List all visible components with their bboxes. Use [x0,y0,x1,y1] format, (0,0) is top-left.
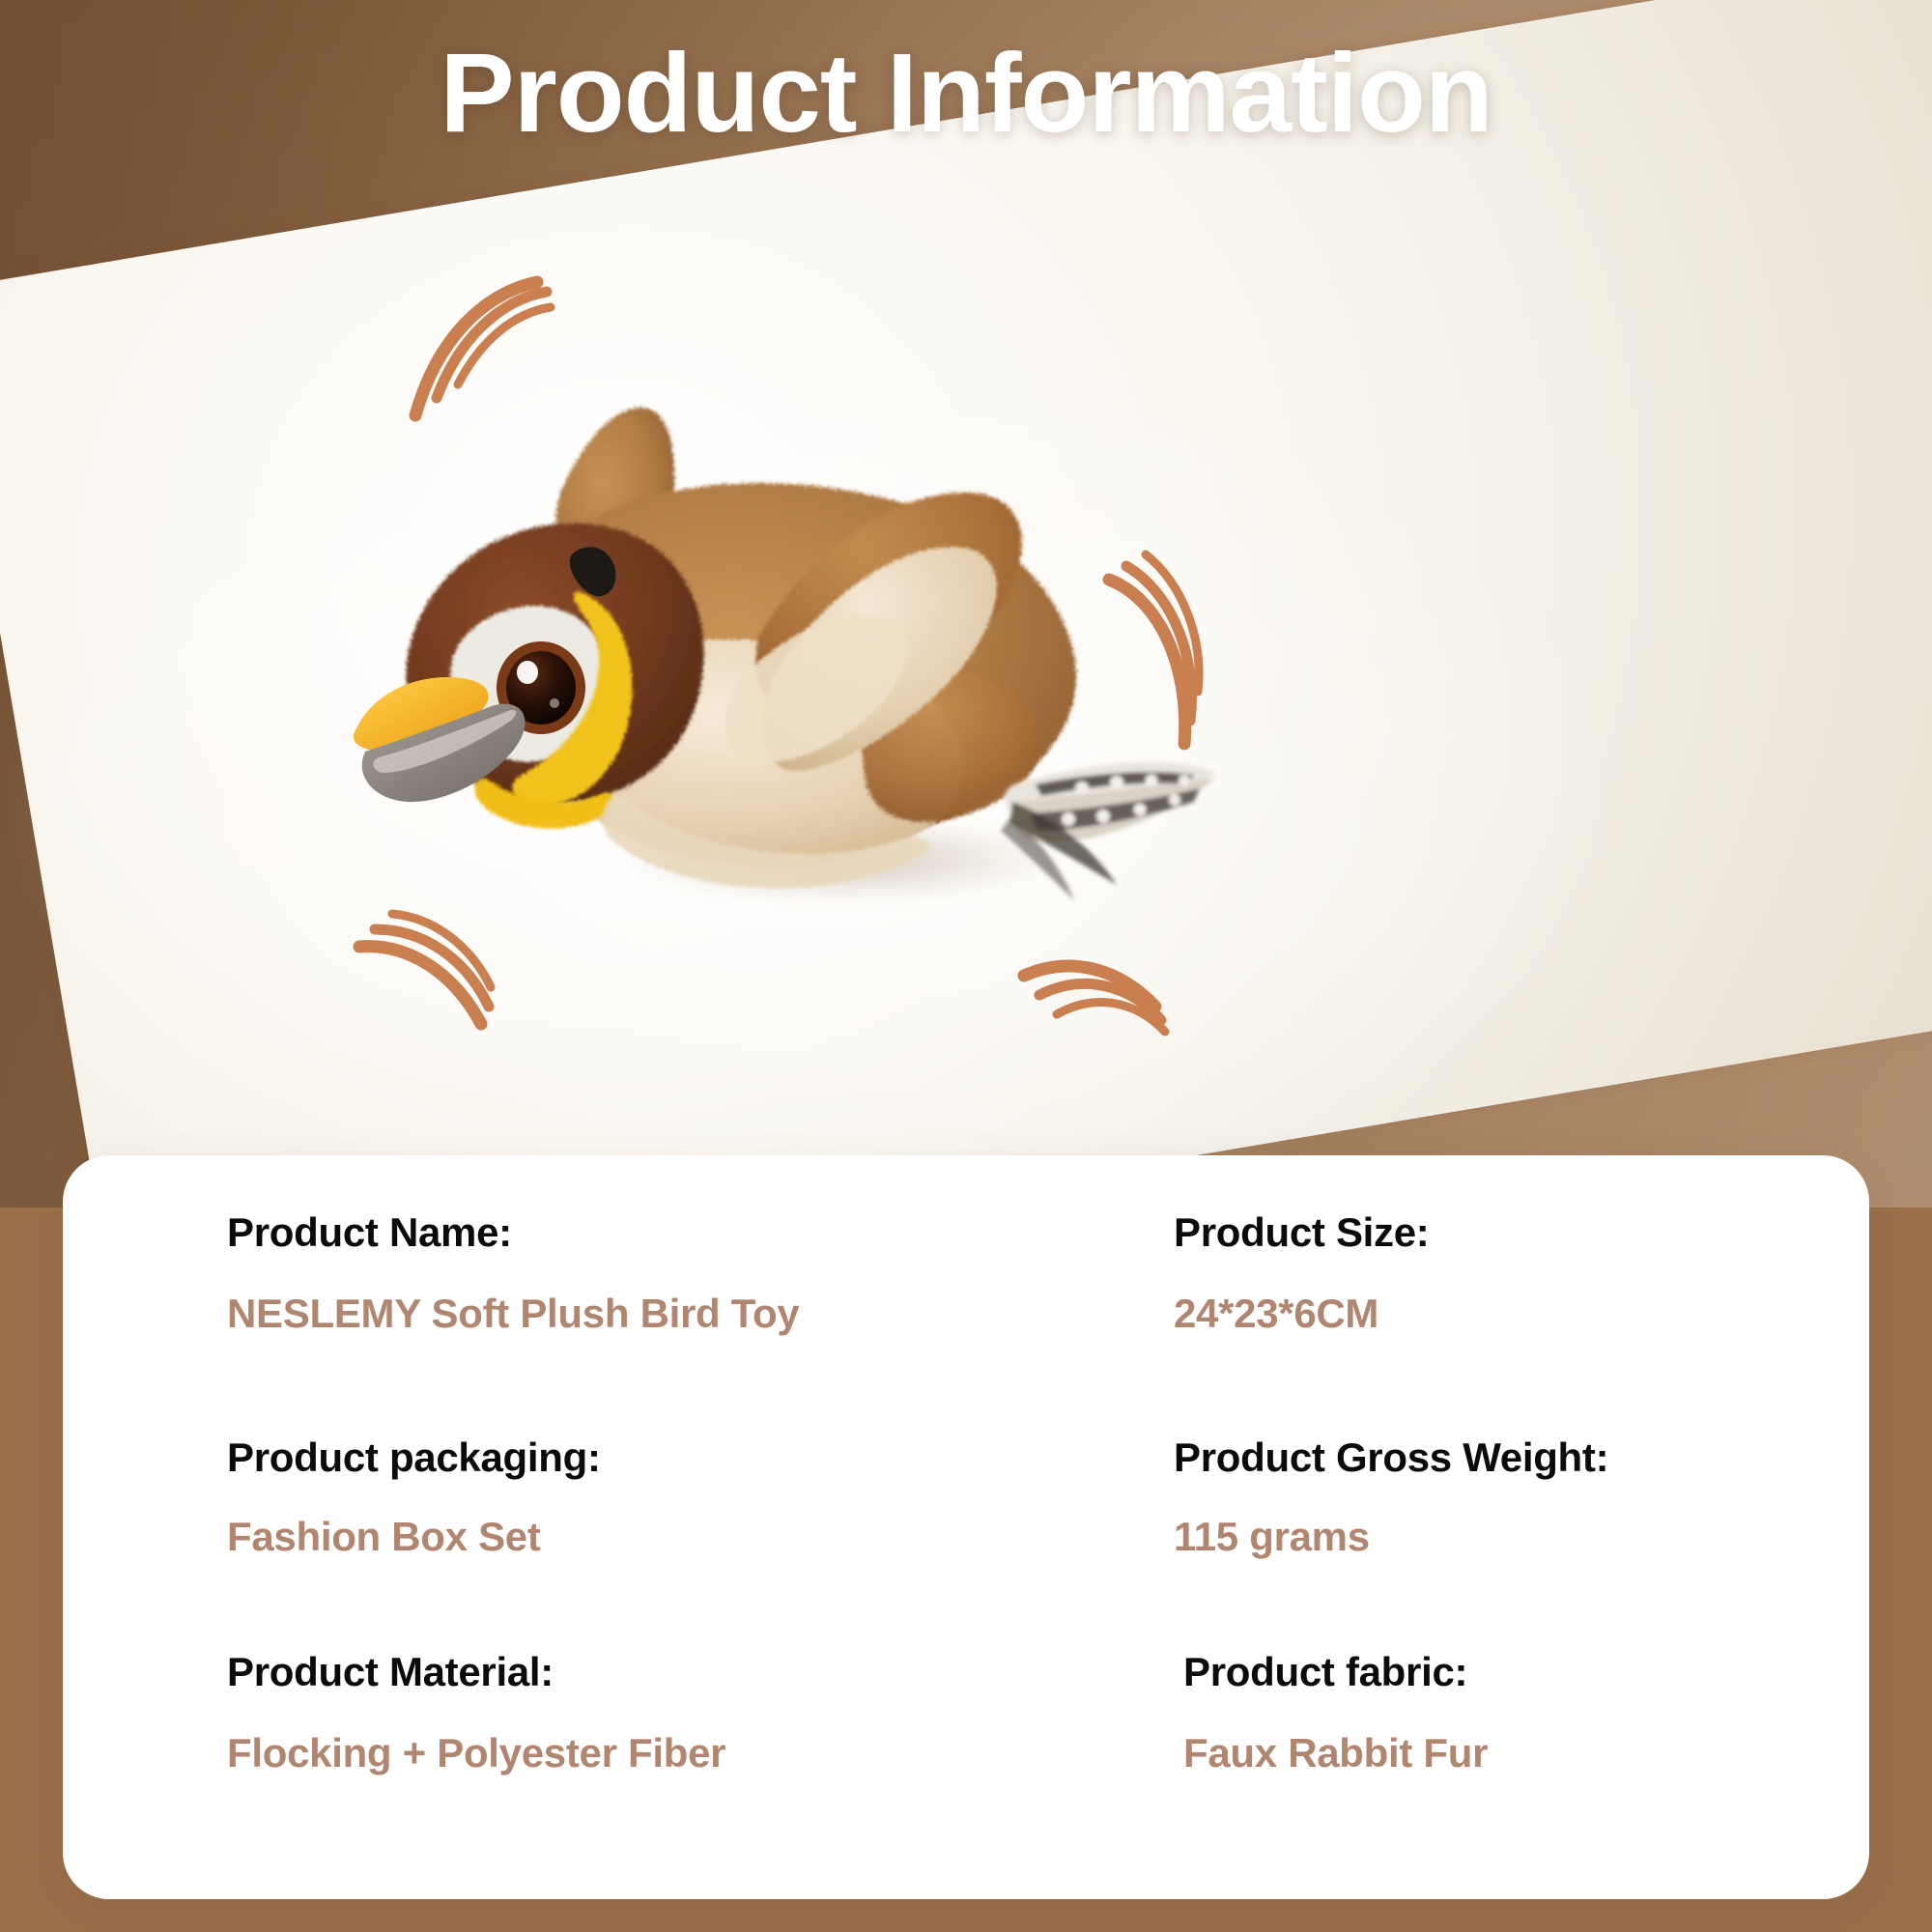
field-label: Product Size: [1174,1209,1811,1256]
field-product-fabric: Product fabric: Faux Rabbit Fur [966,1639,1811,1855]
plush-bird-toy-image [319,348,1285,947]
field-value: 24*23*6CM [1174,1291,1811,1337]
tail-feather [1001,762,1217,900]
field-label: Product packaging: [227,1435,966,1481]
product-photo-scene [0,0,1932,1207]
field-label: Product fabric: [1183,1649,1811,1695]
field-product-material: Product Material: Flocking + Polyester F… [121,1639,966,1855]
field-label: Product Name: [227,1209,966,1256]
product-information-page: Product Information Product Name: NESLEM… [0,0,1932,1932]
field-label: Product Gross Weight: [1174,1435,1811,1481]
field-product-size: Product Size: 24*23*6CM [966,1209,1811,1425]
page-title: Product Information [0,35,1932,153]
field-value: Flocking + Polyester Fiber [227,1730,966,1776]
field-product-packaging: Product packaging: Fashion Box Set [121,1425,966,1640]
field-value: NESLEMY Soft Plush Bird Toy [227,1291,966,1337]
field-product-gross-weight: Product Gross Weight: 115 grams [966,1425,1811,1640]
field-label: Product Material: [227,1649,966,1695]
field-value: Fashion Box Set [227,1514,966,1560]
field-value: 115 grams [1174,1514,1811,1560]
field-value: Faux Rabbit Fur [1183,1730,1811,1776]
product-info-card: Product Name: NESLEMY Soft Plush Bird To… [63,1155,1869,1899]
product-info-grid: Product Name: NESLEMY Soft Plush Bird To… [63,1155,1869,1899]
bird-graphic [354,408,1217,900]
field-product-name: Product Name: NESLEMY Soft Plush Bird To… [121,1209,966,1425]
